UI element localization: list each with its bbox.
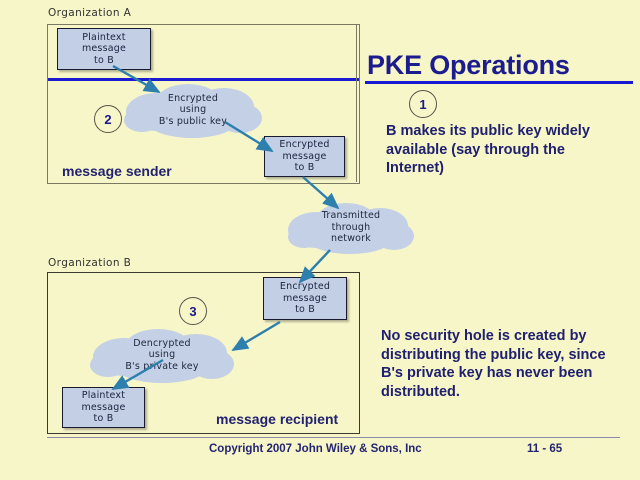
organization-a-label: Organization A <box>48 7 131 19</box>
message-sender-label: message sender <box>62 163 172 179</box>
plaintext-recipient-line-3: to B <box>94 413 114 424</box>
title-underline <box>365 81 633 84</box>
footer-copyright: Copyright 2007 John Wiley & Sons, Inc <box>209 443 422 455</box>
plaintext-line-2: message <box>82 43 126 54</box>
page-title: PKE Operations <box>367 50 570 81</box>
message-recipient-label: message recipient <box>216 411 338 427</box>
encrypted-sender-line-2: message <box>282 151 326 162</box>
decrypt-cloud-line-3: B's private key <box>125 361 198 372</box>
organization-a-right-edge <box>356 24 357 182</box>
footer-page-number: 11 - 65 <box>527 443 562 455</box>
step-number-1: 1 <box>409 90 437 118</box>
decrypt-cloud: Dencrypted using B's private key <box>88 327 236 383</box>
encrypt-cloud-line-1: Encrypted <box>168 93 218 104</box>
transit-cloud-line-3: network <box>331 233 371 244</box>
encrypt-cloud-line-3: B's public key <box>159 116 227 127</box>
organization-b-label: Organization B <box>48 257 131 269</box>
step-number-2: 2 <box>94 105 122 133</box>
transit-cloud-line-1: Transmitted <box>322 210 381 221</box>
plaintext-line-3: to B <box>94 55 114 66</box>
plaintext-recipient-line-1: Plaintext <box>82 390 125 401</box>
footer-divider <box>47 437 620 438</box>
encrypted-sender-line-3: to B <box>295 162 315 173</box>
encrypted-message-box-recipient: Encrypted message to B <box>263 277 347 320</box>
slide-canvas: PKE Operations Organization A Plaintext … <box>0 0 640 480</box>
transit-cloud: Transmitted through network <box>286 200 416 255</box>
decrypt-cloud-line-1: Dencrypted <box>133 338 191 349</box>
encrypted-recipient-line-2: message <box>283 293 327 304</box>
callout-text-2: No security hole is created by distribut… <box>381 327 631 401</box>
plaintext-recipient-line-2: message <box>81 402 125 413</box>
encrypted-message-box-sender: Encrypted message to B <box>264 136 345 177</box>
transit-cloud-line-2: through <box>332 222 371 233</box>
encrypt-cloud-line-2: using <box>180 104 207 115</box>
plaintext-line-1: Plaintext <box>82 32 125 43</box>
plaintext-message-box-sender: Plaintext message to B <box>57 28 151 70</box>
encrypted-sender-line-1: Encrypted <box>279 139 329 150</box>
decrypt-cloud-line-2: using <box>149 349 176 360</box>
callout-text-1: B makes its public key widely available … <box>386 122 616 178</box>
step-number-3: 3 <box>179 297 207 325</box>
encrypt-cloud: Encrypted using B's public key <box>122 82 264 138</box>
encrypted-recipient-line-3: to B <box>295 304 315 315</box>
plaintext-message-box-recipient: Plaintext message to B <box>62 387 145 428</box>
encrypted-recipient-line-1: Encrypted <box>280 281 330 292</box>
